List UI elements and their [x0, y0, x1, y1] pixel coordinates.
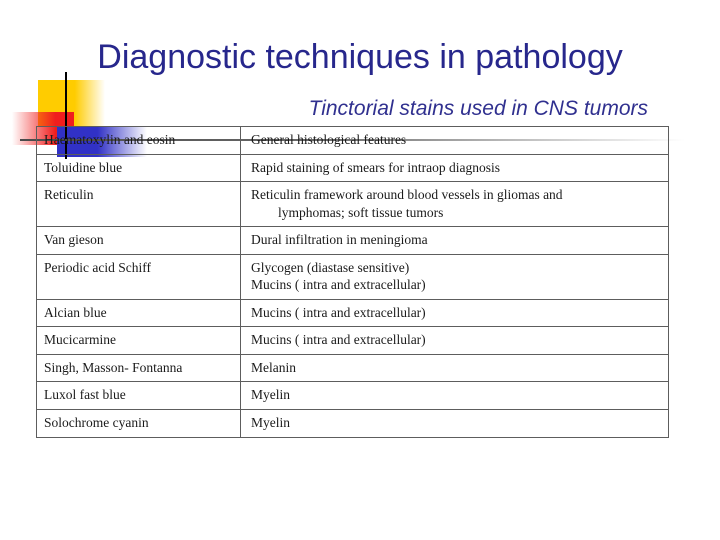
cell-stain-use: Reticulin framework around blood vessels…	[241, 182, 669, 227]
cell-stain-name: Alcian blue	[37, 299, 241, 327]
tinctorial-stains-table: Haematoxylin and eosin General histologi…	[36, 126, 669, 438]
cell-line: Melanin	[251, 359, 668, 377]
cell-line: Myelin	[251, 386, 668, 404]
cell-stain-use: Melanin	[241, 354, 669, 382]
cell-stain-name: Haematoxylin and eosin	[37, 127, 241, 155]
cell-stain-use: Glycogen (diastase sensitive) Mucins ( i…	[241, 254, 669, 299]
cell-stain-use: Myelin	[241, 382, 669, 410]
table-row: Periodic acid Schiff Glycogen (diastase …	[37, 254, 669, 299]
table-row: Mucicarmine Mucins ( intra and extracell…	[37, 327, 669, 355]
table-row: Reticulin Reticulin framework around blo…	[37, 182, 669, 227]
cell-line: lymphomas; soft tissue tumors	[251, 204, 668, 222]
cell-stain-name: Solochrome cyanin	[37, 410, 241, 438]
cell-stain-use: Mucins ( intra and extracellular)	[241, 299, 669, 327]
table-row: Haematoxylin and eosin General histologi…	[37, 127, 669, 155]
cell-stain-use: Rapid staining of smears for intraop dia…	[241, 154, 669, 182]
cell-line: Rapid staining of smears for intraop dia…	[251, 159, 668, 177]
cell-line: Mucins ( intra and extracellular)	[251, 304, 668, 322]
cell-line: General histological features	[251, 131, 668, 149]
table-row: Luxol fast blue Myelin	[37, 382, 669, 410]
cell-stain-name: Toluidine blue	[37, 154, 241, 182]
cell-line: Mucins ( intra and extracellular)	[251, 276, 668, 294]
table-row: Solochrome cyanin Myelin	[37, 410, 669, 438]
table-body: Haematoxylin and eosin General histologi…	[37, 127, 669, 438]
table-row: Alcian blue Mucins ( intra and extracell…	[37, 299, 669, 327]
cell-stain-name: Luxol fast blue	[37, 382, 241, 410]
table-row: Toluidine blue Rapid staining of smears …	[37, 154, 669, 182]
cell-line: Reticulin framework around blood vessels…	[251, 186, 668, 204]
cell-stain-name: Singh, Masson- Fontanna	[37, 354, 241, 382]
cell-stain-name: Van gieson	[37, 227, 241, 255]
slide-canvas: Diagnostic techniques in pathology Tinct…	[0, 0, 720, 540]
cell-stain-use: Dural infiltration in meningioma	[241, 227, 669, 255]
cell-stain-name: Periodic acid Schiff	[37, 254, 241, 299]
table-row: Van gieson Dural infiltration in meningi…	[37, 227, 669, 255]
cell-stain-use: Myelin	[241, 410, 669, 438]
cell-line: Glycogen (diastase sensitive)	[251, 259, 668, 277]
cell-stain-use: General histological features	[241, 127, 669, 155]
page-subtitle: Tinctorial stains used in CNS tumors	[0, 97, 720, 121]
cell-stain-name: Mucicarmine	[37, 327, 241, 355]
cell-stain-name: Reticulin	[37, 182, 241, 227]
cell-line: Mucins ( intra and extracellular)	[251, 331, 668, 349]
cell-line: Dural infiltration in meningioma	[251, 231, 668, 249]
page-title: Diagnostic techniques in pathology	[0, 38, 720, 77]
cell-stain-use: Mucins ( intra and extracellular)	[241, 327, 669, 355]
cell-line: Myelin	[251, 414, 668, 432]
table-row: Singh, Masson- Fontanna Melanin	[37, 354, 669, 382]
